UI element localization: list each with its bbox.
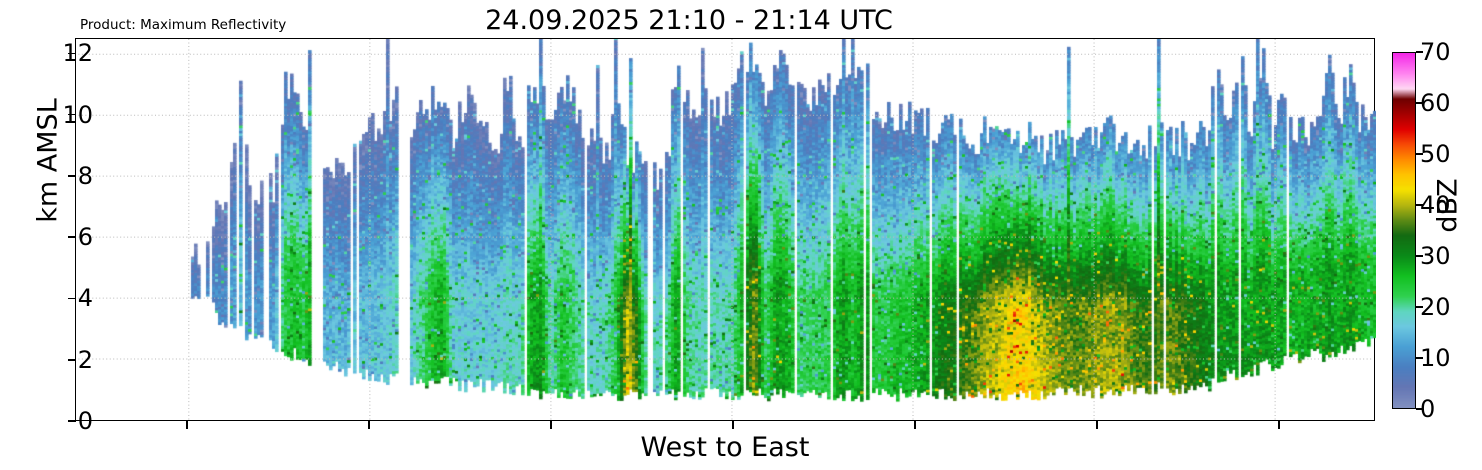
y-tick-label: 6 bbox=[78, 225, 93, 249]
colorbar-tick-mark bbox=[1416, 153, 1423, 155]
colorbar-tick-mark bbox=[1416, 357, 1423, 359]
colorbar-tick-mark bbox=[1416, 408, 1423, 410]
y-tick-label: 2 bbox=[78, 348, 93, 372]
plot-area bbox=[75, 38, 1375, 421]
x-tick-mark bbox=[1096, 421, 1098, 429]
y-tick-mark bbox=[68, 420, 76, 422]
x-tick-mark bbox=[550, 421, 552, 429]
colorbar-label: dBZ bbox=[1433, 146, 1464, 266]
y-tick-mark bbox=[68, 236, 76, 238]
colorbar-tick-mark bbox=[1416, 306, 1423, 308]
colorbar-tick-mark bbox=[1416, 51, 1423, 53]
x-tick-mark bbox=[368, 421, 370, 429]
x-tick-mark bbox=[732, 421, 734, 429]
y-tick-label: 8 bbox=[78, 164, 93, 188]
radar-cross-section-figure: Product: Maximum Reflectivity 24.09.2025… bbox=[0, 0, 1482, 470]
chart-title: 24.09.2025 21:10 - 21:14 UTC bbox=[0, 6, 1378, 36]
y-tick-mark bbox=[68, 114, 76, 116]
colorbar-tick-label: 10 bbox=[1420, 346, 1451, 370]
y-tick-label: 0 bbox=[78, 409, 93, 433]
colorbar-tick-mark bbox=[1416, 204, 1423, 206]
x-tick-mark bbox=[1278, 421, 1280, 429]
colorbar bbox=[1392, 52, 1416, 409]
colorbar-tick-mark bbox=[1416, 102, 1423, 104]
colorbar-tick-label: 20 bbox=[1420, 295, 1451, 319]
y-axis-label: km AMSL bbox=[33, 61, 64, 261]
y-tick-mark bbox=[68, 175, 76, 177]
colorbar-tick-label: 60 bbox=[1420, 91, 1451, 115]
y-tick-mark bbox=[68, 298, 76, 300]
colorbar-gradient bbox=[1392, 52, 1416, 409]
y-tick-label: 4 bbox=[78, 286, 93, 310]
x-tick-mark bbox=[914, 421, 916, 429]
colorbar-tick-label: 70 bbox=[1420, 40, 1451, 64]
y-tick-mark bbox=[68, 359, 76, 361]
x-tick-mark bbox=[186, 421, 188, 429]
colorbar-tick-mark bbox=[1416, 255, 1423, 257]
y-tick-mark bbox=[68, 53, 76, 55]
reflectivity-heatmap bbox=[76, 39, 1376, 422]
x-axis-label: West to East bbox=[75, 432, 1375, 463]
